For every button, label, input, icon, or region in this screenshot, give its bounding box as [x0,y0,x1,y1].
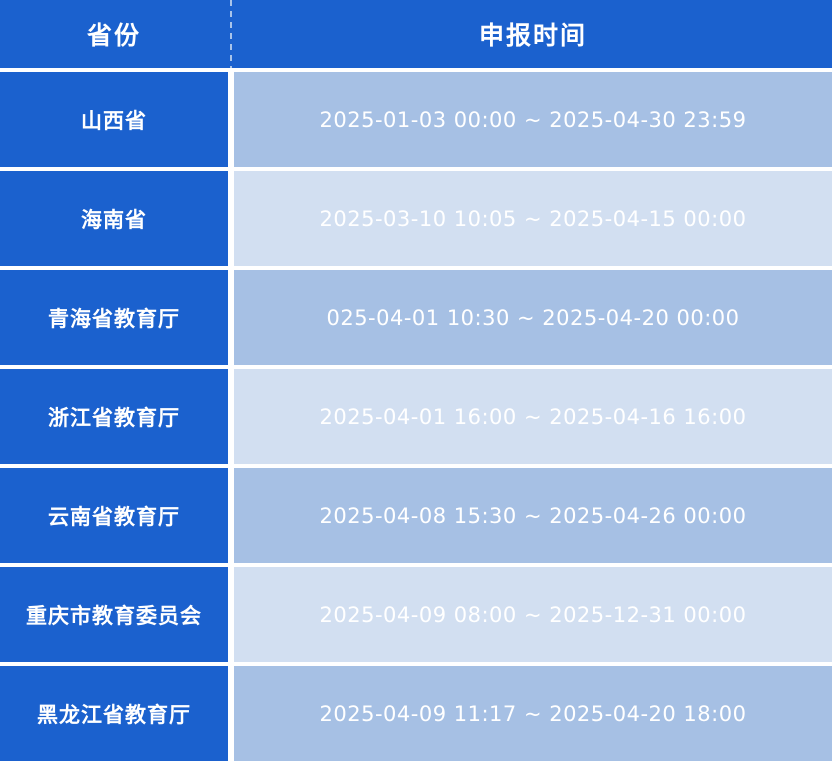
cell-declaration-time: 2025-01-03 00:00 ~ 2025-04-30 23:59 [234,72,832,167]
table-row: 青海省教育厅025-04-01 10:30 ~ 2025-04-20 00:00 [0,270,832,365]
cell-province: 海南省 [0,171,228,266]
cell-declaration-time: 2025-04-08 15:30 ~ 2025-04-26 00:00 [234,468,832,563]
cell-declaration-time: 2025-04-09 08:00 ~ 2025-12-31 00:00 [234,567,832,662]
table-row: 山西省2025-01-03 00:00 ~ 2025-04-30 23:59 [0,72,832,167]
cell-declaration-time: 2025-04-01 16:00 ~ 2025-04-16 16:00 [234,369,832,464]
cell-province: 青海省教育厅 [0,270,228,365]
dashed-divider-icon [230,0,232,68]
table-row: 云南省教育厅2025-04-08 15:30 ~ 2025-04-26 00:0… [0,468,832,563]
table-row: 浙江省教育厅2025-04-01 16:00 ~ 2025-04-16 16:0… [0,369,832,464]
table-body: 山西省2025-01-03 00:00 ~ 2025-04-30 23:59海南… [0,68,832,761]
cell-province: 浙江省教育厅 [0,369,228,464]
column-header-province: 省份 [0,0,228,68]
header-column-divider [228,0,234,68]
cell-declaration-time: 2025-04-09 11:17 ~ 2025-04-20 18:00 [234,666,832,761]
cell-province: 重庆市教育委员会 [0,567,228,662]
cell-declaration-time: 2025-03-10 10:05 ~ 2025-04-15 00:00 [234,171,832,266]
province-declaration-table: 省份 申报时间 山西省2025-01-03 00:00 ~ 2025-04-30… [0,0,832,734]
cell-province: 云南省教育厅 [0,468,228,563]
cell-province: 山西省 [0,72,228,167]
table-header-row: 省份 申报时间 [0,0,832,68]
cell-declaration-time: 025-04-01 10:30 ~ 2025-04-20 00:00 [234,270,832,365]
column-header-declaration-time: 申报时间 [234,0,832,68]
table-row: 重庆市教育委员会2025-04-09 08:00 ~ 2025-12-31 00… [0,567,832,662]
cell-province: 黑龙江省教育厅 [0,666,228,761]
table-row: 黑龙江省教育厅2025-04-09 11:17 ~ 2025-04-20 18:… [0,666,832,761]
table-row: 海南省2025-03-10 10:05 ~ 2025-04-15 00:00 [0,171,832,266]
